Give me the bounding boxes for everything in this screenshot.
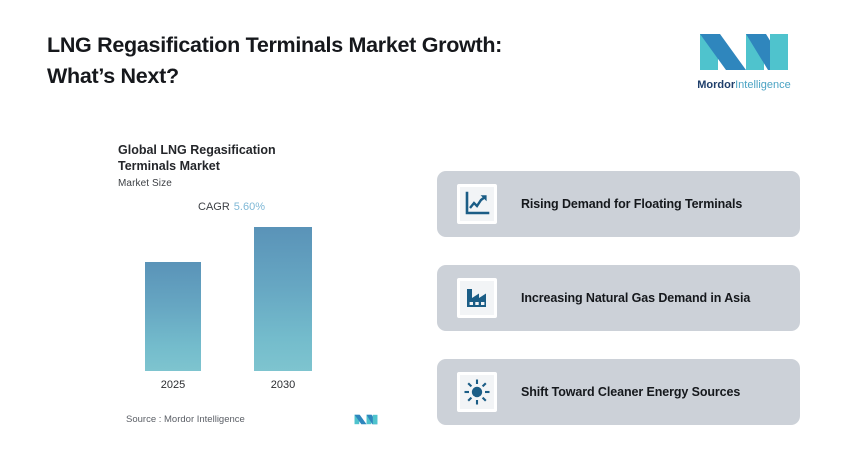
bar-2030 xyxy=(254,227,312,371)
driver-card-rising-demand[interactable]: Rising Demand for Floating Terminals xyxy=(437,171,800,237)
chart-subtitle: Market Size xyxy=(118,178,378,189)
cagr-value: 5.60% xyxy=(234,201,265,213)
chart-panel: Global LNG Regasification Terminals Mark… xyxy=(118,143,378,433)
brand-wordmark: MordorIntelligence xyxy=(694,79,794,92)
driver-card-label: Increasing Natural Gas Demand in Asia xyxy=(521,291,750,305)
brand-name-bold: Mordor xyxy=(697,79,735,91)
bar-column-2025: 2025 xyxy=(145,262,201,371)
driver-card-label: Rising Demand for Floating Terminals xyxy=(521,197,742,211)
mordor-m-monogram-icon-small xyxy=(354,413,378,426)
driver-card-cleaner-energy[interactable]: Shift Toward Cleaner Energy Sources xyxy=(437,359,800,425)
bar-column-2030: 2030 xyxy=(254,227,312,371)
page-title: LNG Regasification Terminals Market Grow… xyxy=(47,30,567,92)
factory-icon xyxy=(457,278,497,318)
driver-card-gas-demand-asia[interactable]: Increasing Natural Gas Demand in Asia xyxy=(437,265,800,331)
page-title-line-1: LNG Regasification Terminals Market Grow… xyxy=(47,30,567,61)
mordor-m-monogram-icon xyxy=(698,30,790,74)
brand-logo: MordorIntelligence xyxy=(694,30,794,96)
driver-card-label: Shift Toward Cleaner Energy Sources xyxy=(521,385,740,399)
bar-2025 xyxy=(145,262,201,371)
cagr-annotation: CAGR5.60% xyxy=(198,201,378,213)
page-title-line-2: What’s Next? xyxy=(47,61,567,92)
sun-icon xyxy=(457,372,497,412)
brand-name-light: Intelligence xyxy=(735,79,791,91)
line-chart-up-icon xyxy=(457,184,497,224)
slide-canvas: LNG Regasification Terminals Market Grow… xyxy=(0,0,860,470)
chart-source-row: Source : Mordor Intelligence xyxy=(126,413,378,426)
chart-title: Global LNG Regasification Terminals Mark… xyxy=(118,143,333,174)
source-text: Source : Mordor Intelligence xyxy=(126,414,245,425)
bar-label-2025: 2025 xyxy=(145,379,201,391)
cagr-label: CAGR xyxy=(198,201,230,213)
bar-chart-plot: 2025 2030 xyxy=(118,248,378,393)
bar-label-2030: 2030 xyxy=(254,379,312,391)
